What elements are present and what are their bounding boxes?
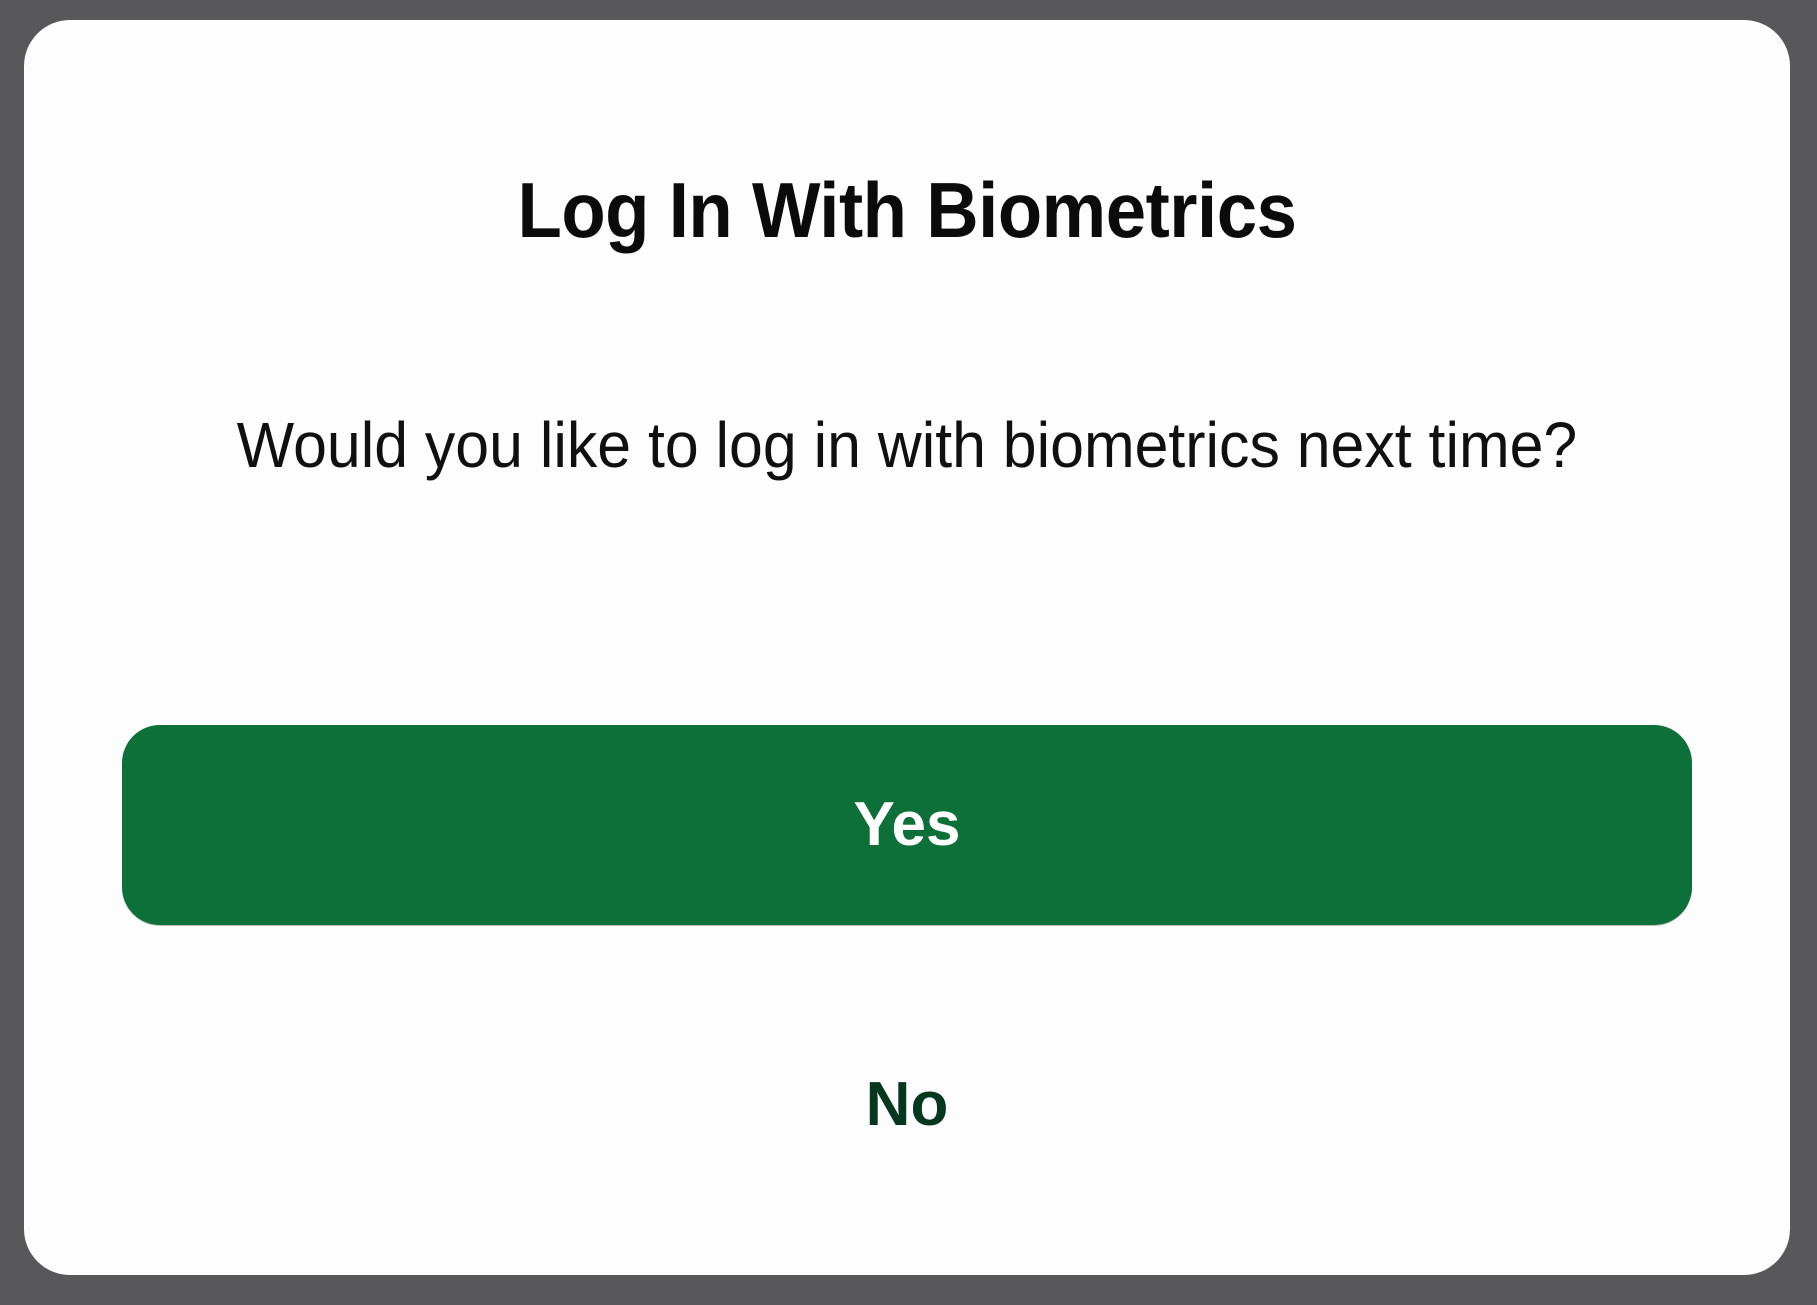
dialog-title: Log In With Biometrics: [86, 170, 1728, 252]
biometrics-dialog: Log In With Biometrics Would you like to…: [24, 20, 1790, 1275]
dialog-message: Would you like to log in with biometrics…: [159, 394, 1654, 496]
no-button[interactable]: No: [122, 1040, 1692, 1170]
yes-button[interactable]: Yes: [122, 725, 1692, 925]
